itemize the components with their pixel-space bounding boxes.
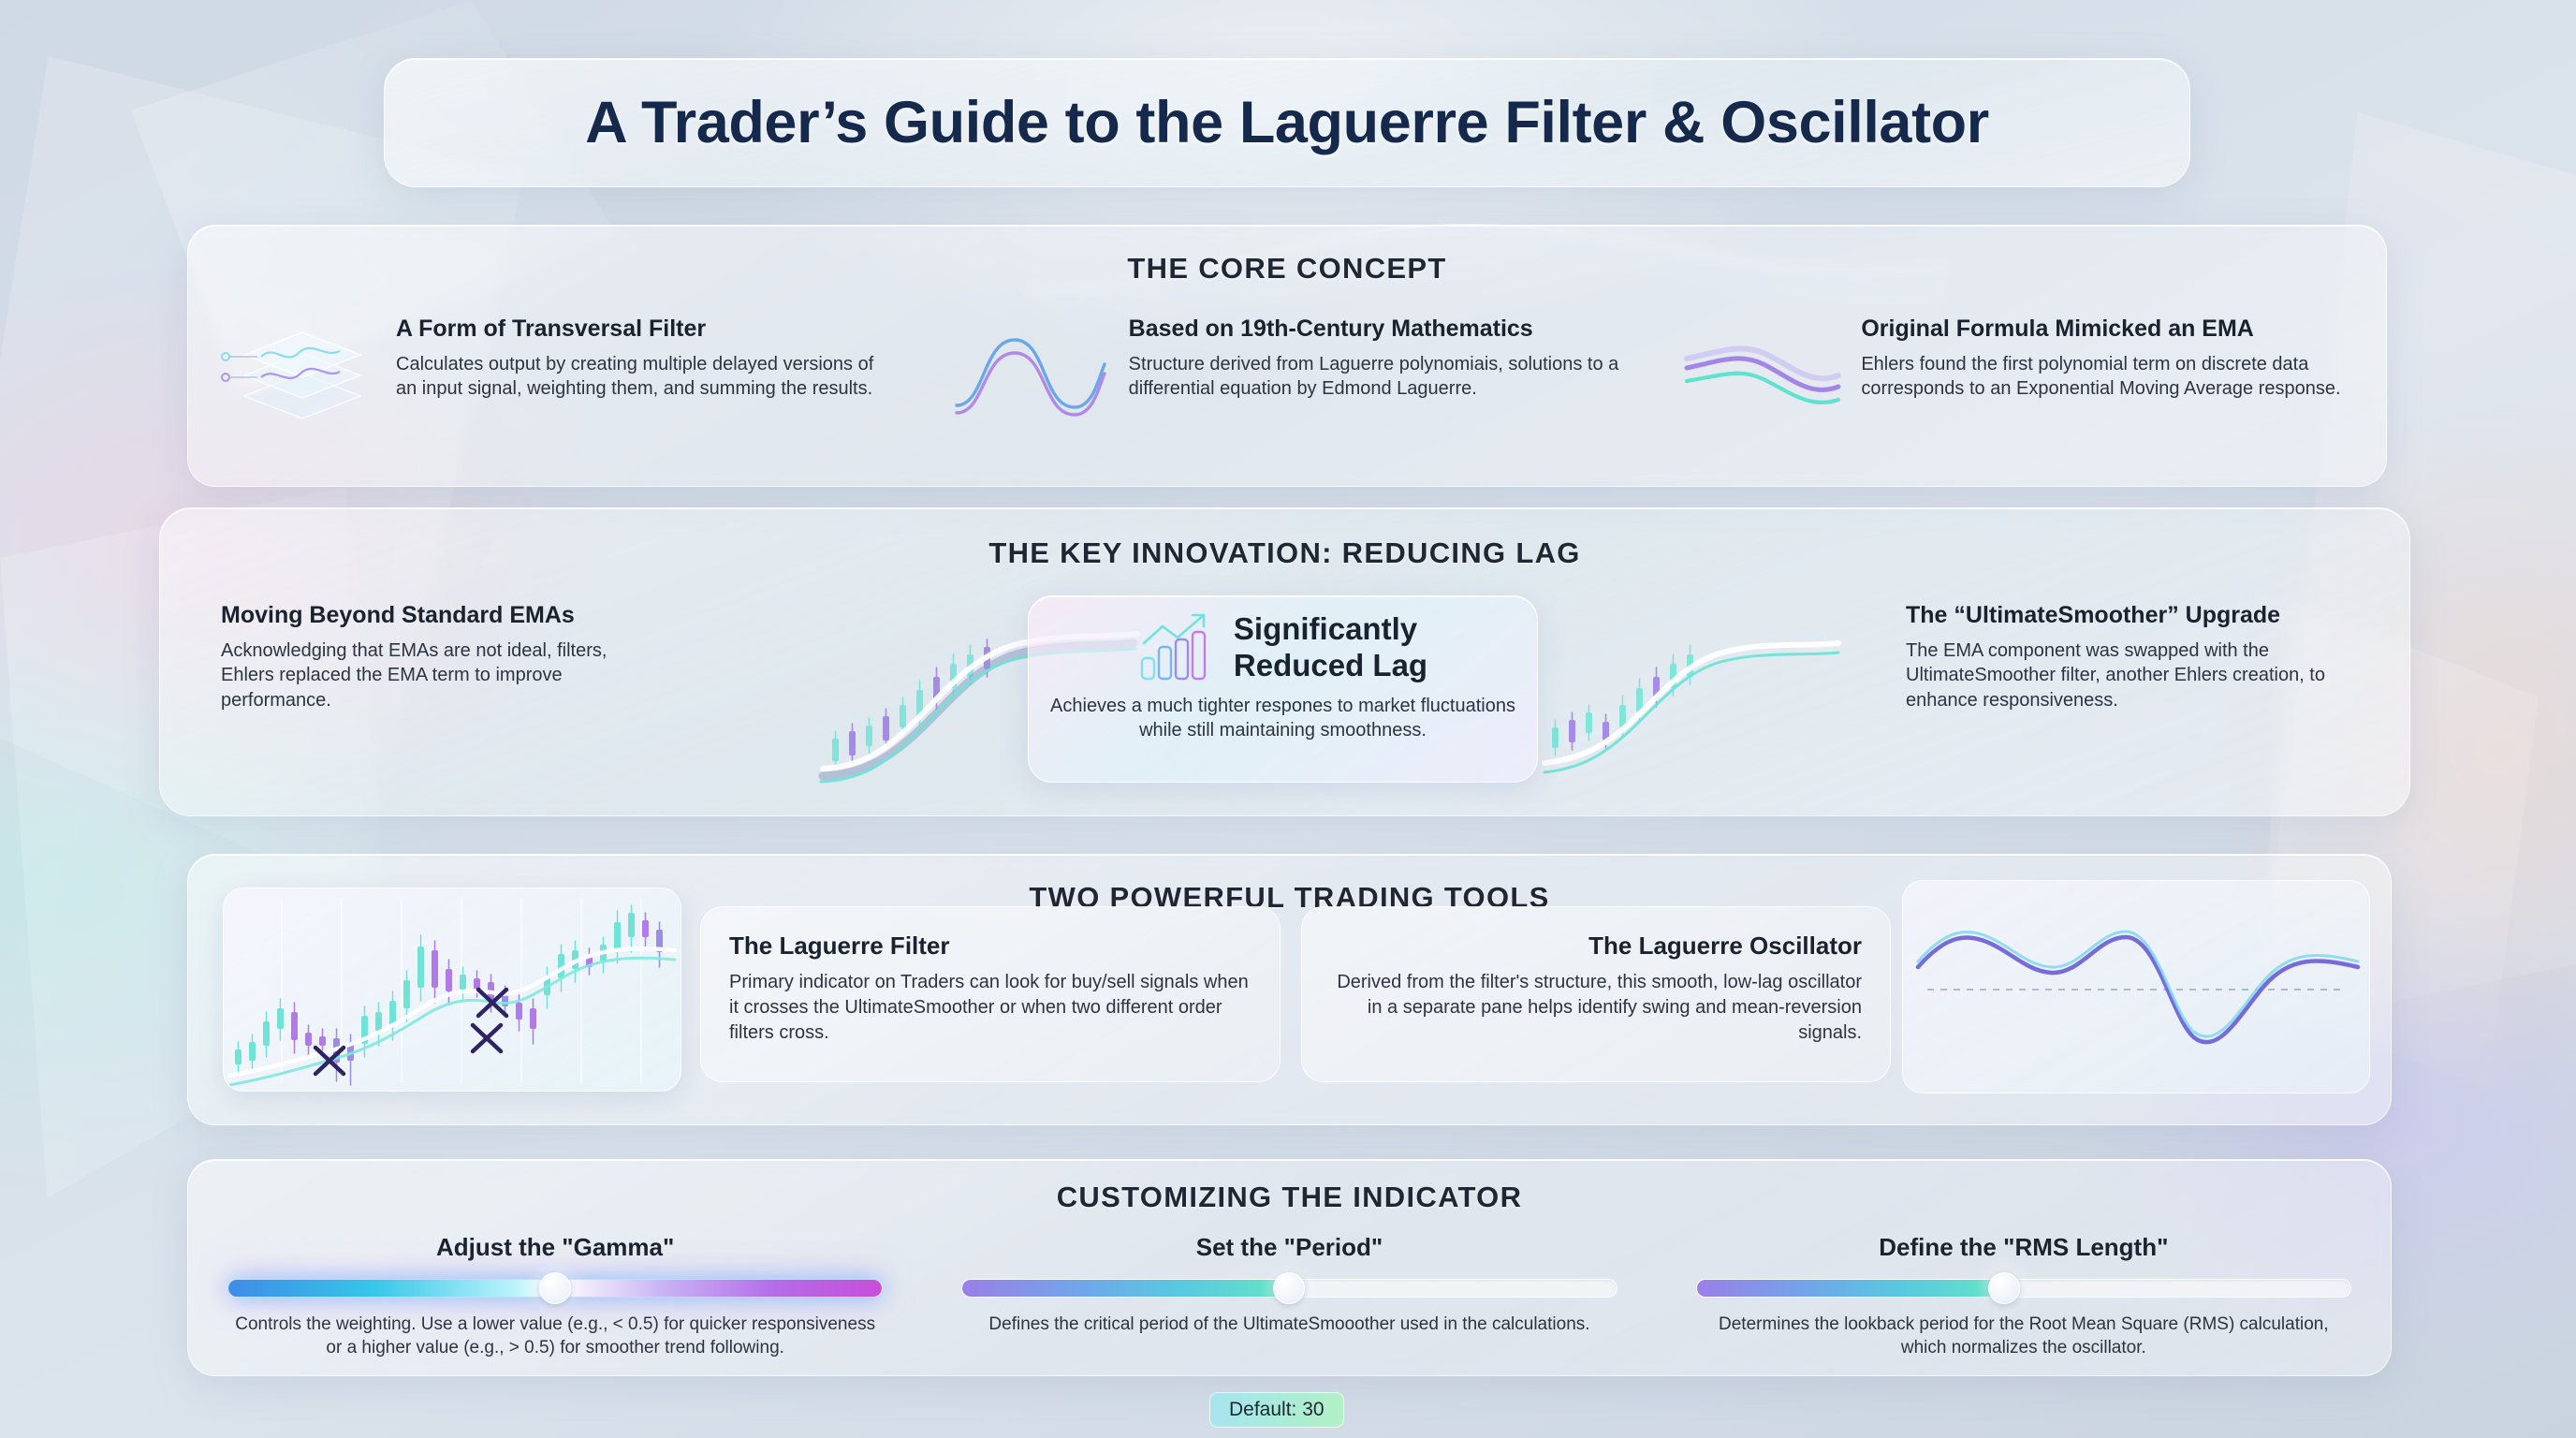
core-concept-item-1: A Form of Transversal Filter Calculates … xyxy=(188,315,921,435)
slider-desc-gamma: Controls the weighting. Use a lower valu… xyxy=(227,1313,883,1359)
section-core-concept: THE CORE CONCEPT A Form of Transversal F… xyxy=(187,225,2387,487)
oscillator-chart-card xyxy=(1902,880,2370,1093)
slider-label-gamma: Adjust the "Gamma" xyxy=(227,1233,883,1262)
core-item-body: Calculates output by creating multiple d… xyxy=(396,352,897,402)
section-customizing: CUSTOMIZING THE INDICATOR Adjust the "Ga… xyxy=(187,1159,2392,1376)
slider-period-knob[interactable] xyxy=(1273,1272,1305,1304)
slider-label-period: Set the "Period" xyxy=(961,1233,1617,1262)
sine-wave-icon xyxy=(945,315,1112,435)
core-item-title: Based on 19th-Century Mathematics xyxy=(1129,315,1630,343)
core-item-body: Ehlers found the first polynomial term o… xyxy=(1861,352,2362,402)
laguerre-filter-body: Primary indicator on Traders can look fo… xyxy=(729,970,1251,1047)
page-title: A Trader’s Guide to the Laguerre Filter … xyxy=(585,89,1989,156)
laguerre-oscillator-card: The Laguerre Oscillator Derived from the… xyxy=(1301,906,1891,1082)
slider-period[interactable] xyxy=(961,1279,1617,1298)
slider-rms[interactable] xyxy=(1696,1279,2351,1298)
reduced-lag-title-line1: Significantly xyxy=(1234,611,1427,648)
innovation-right-title: The “UltimateSmoother” Upgrade xyxy=(1906,602,2355,629)
slider-gamma-knob[interactable] xyxy=(539,1272,571,1304)
reduced-lag-header: Significantly Reduced Lag xyxy=(1029,596,1537,684)
slider-group-gamma: Adjust the "Gamma" Controls the weightin… xyxy=(188,1233,922,1359)
innovation-left-body: Acknowledging that EMAs are not ideal, f… xyxy=(221,638,661,712)
layered-signal-icon xyxy=(212,315,379,435)
candlestick-smoother-icon xyxy=(1539,623,1885,786)
innovation-left-title: Moving Beyond Standard EMAs xyxy=(221,602,661,629)
laguerre-filter-card: The Laguerre Filter Primary indicator on… xyxy=(700,906,1281,1082)
section-heading-core-concept: THE CORE CONCEPT xyxy=(188,252,2386,286)
core-item-body: Structure derived from Laguerre polynomi… xyxy=(1129,352,1630,402)
laguerre-filter-title: The Laguerre Filter xyxy=(729,932,1251,961)
innovation-left-text: Moving Beyond Standard EMAs Acknowledgin… xyxy=(221,602,661,712)
innovation-right-text: The “UltimateSmoother” Upgrade The EMA c… xyxy=(1906,602,2355,712)
slider-columns: Adjust the "Gamma" Controls the weightin… xyxy=(188,1233,2391,1359)
candlestick-chart-icon xyxy=(224,888,681,1092)
bar-chart-growth-icon xyxy=(1138,611,1221,684)
laguerre-oscillator-title: The Laguerre Oscillator xyxy=(1330,932,1862,961)
slider-group-period: Set the "Period" Defines the critical pe… xyxy=(922,1233,1656,1359)
reduced-lag-highlight-card: Significantly Reduced Lag Achieves a muc… xyxy=(1028,595,1538,783)
laguerre-oscillator-body: Derived from the filter's structure, thi… xyxy=(1330,970,1862,1047)
slider-gamma[interactable] xyxy=(227,1279,883,1298)
core-concept-columns: A Form of Transversal Filter Calculates … xyxy=(188,315,2386,435)
candlestick-chart-card xyxy=(223,888,681,1092)
core-concept-item-2: Based on 19th-Century Mathematics Struct… xyxy=(921,315,1654,435)
section-heading-customizing: CUSTOMIZING THE INDICATOR xyxy=(188,1181,2391,1214)
reduced-lag-body: Achieves a much tighter respones to mark… xyxy=(1029,684,1537,742)
slider-rms-fill xyxy=(1697,1280,2004,1297)
slider-group-rms: Define the "RMS Length" Determines the l… xyxy=(1657,1233,2391,1359)
core-item-title: A Form of Transversal Filter xyxy=(396,315,897,343)
core-item-title: Original Formula Mimicked an EMA xyxy=(1861,315,2362,343)
oscillator-wave-icon xyxy=(1903,881,2370,1093)
curve-pair-icon xyxy=(1677,315,1844,435)
innovation-right-body: The EMA component was swapped with the U… xyxy=(1906,638,2355,712)
slider-period-fill xyxy=(962,1280,1289,1297)
reduced-lag-title-line2: Reduced Lag xyxy=(1234,648,1427,684)
slider-desc-rms: Determines the lookback period for the R… xyxy=(1696,1313,2351,1359)
status-badge-default-period: Default: 30 xyxy=(1209,1392,1344,1428)
slider-rms-knob[interactable] xyxy=(1988,1272,2020,1304)
slider-label-rms: Define the "RMS Length" xyxy=(1696,1233,2351,1262)
slider-desc-period: Defines the critical period of the Ultim… xyxy=(961,1313,1617,1336)
page-title-card: A Trader’s Guide to the Laguerre Filter … xyxy=(384,58,2190,187)
section-heading-key-innovation: THE KEY INNOVATION: REDUCING LAG xyxy=(160,536,2409,570)
core-concept-item-3: Original Formula Mimicked an EMA Ehlers … xyxy=(1653,315,2386,435)
